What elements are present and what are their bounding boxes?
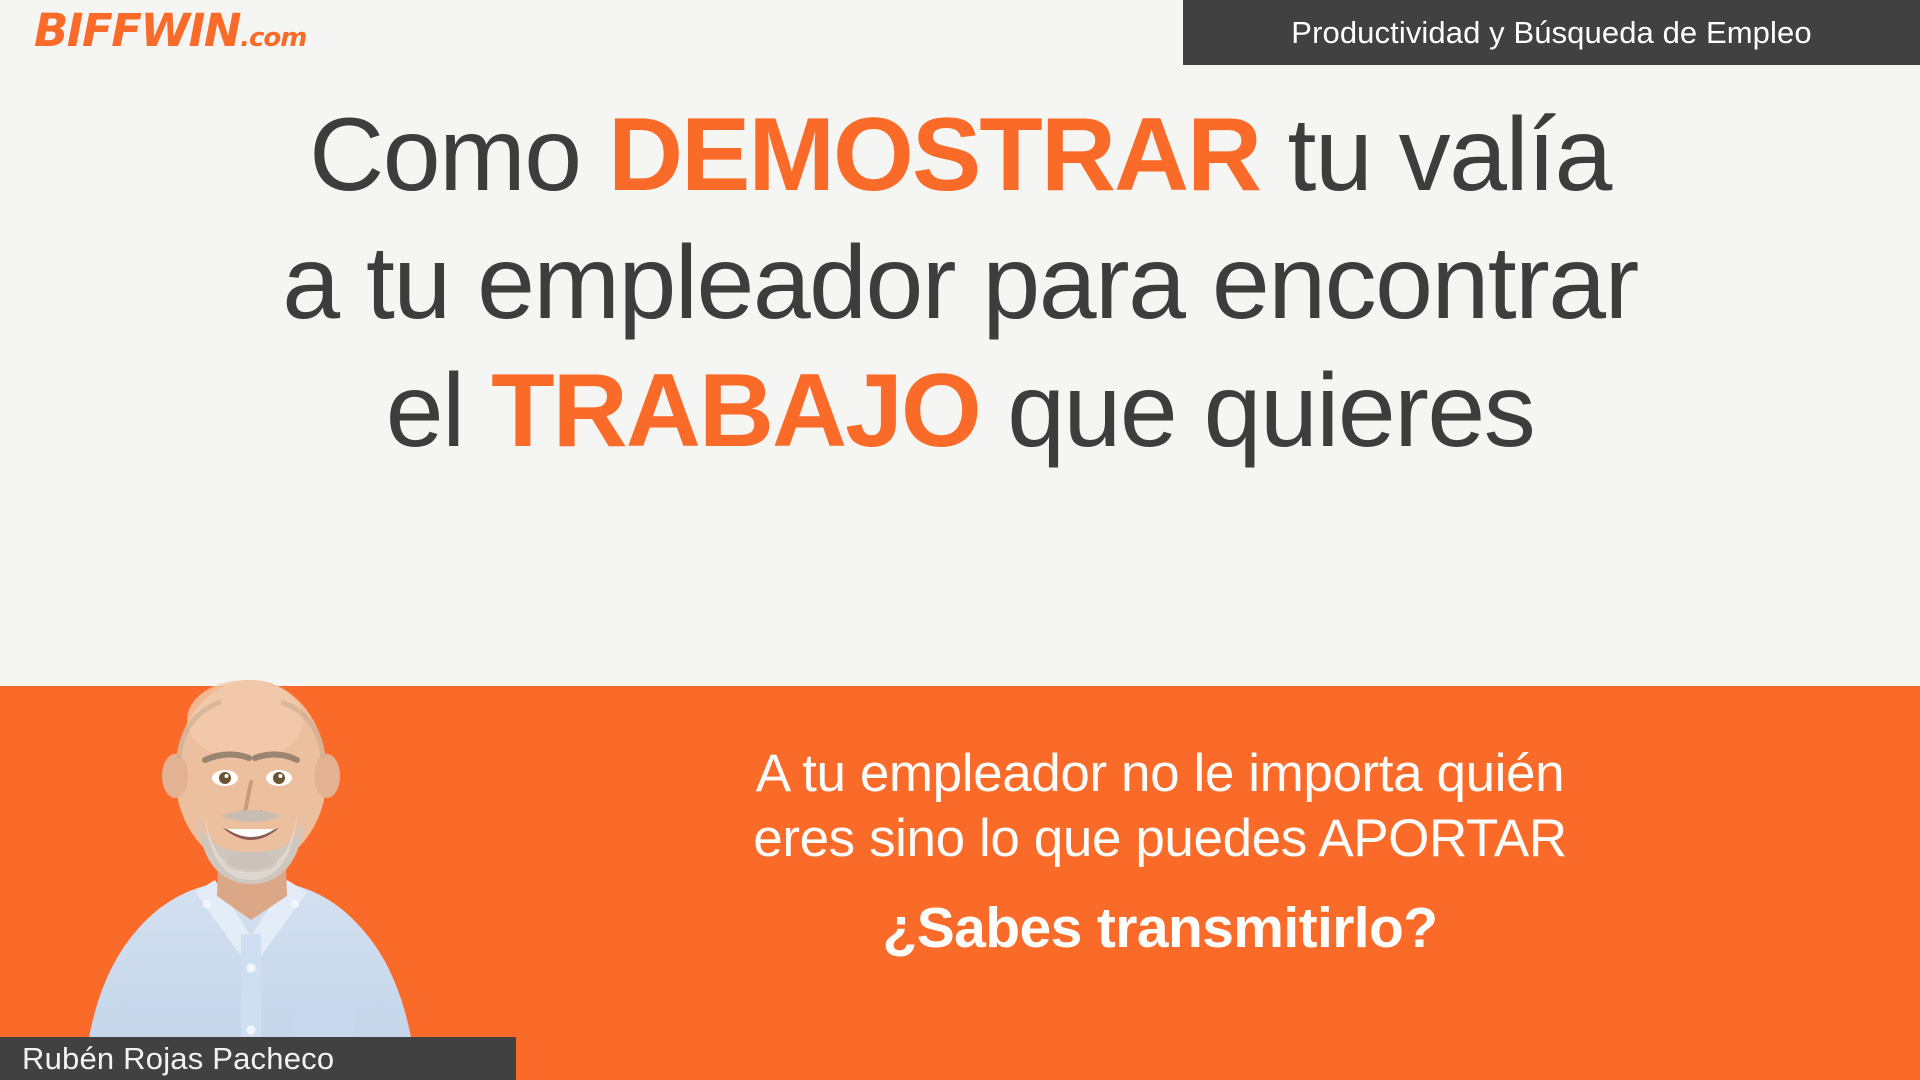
topic-banner: Productividad y Búsqueda de Empleo [1183,0,1920,65]
headline-line-1: Como DEMOSTRAR tu valía [0,92,1920,220]
logo-domain-suffix: .com [240,23,306,53]
presenter-name-label: Rubén Rojas Pacheco [0,1041,334,1077]
headline-line-3: el TRABAJO que quieres [0,348,1920,476]
topic-banner-label: Productividad y Búsqueda de Empleo [1291,15,1811,51]
headline-text-3b: que quieres [980,353,1534,469]
subheading-question: ¿Sabes transmitirlo? [440,895,1880,961]
presenter-name-badge: Rubén Rojas Pacheco [0,1037,516,1080]
headline-emphasis-demostrar: DEMOSTRAR [608,97,1260,213]
slide-canvas: BIFFWIN.com Productividad y Búsqueda de … [0,0,1920,1080]
subheading-line-2: eres sino lo que puedes APORTAR [440,807,1880,872]
headline-text-1b: tu valía [1260,97,1611,213]
headline-text-3a: el [386,353,491,469]
headline-line-2: a tu empleador para encontrar [0,220,1920,348]
subheading-line-1: A tu empleador no le importa quién [440,742,1880,807]
page-title: Como DEMOSTRAR tu valía a tu empleador p… [0,92,1920,476]
presenter-photo [55,648,445,1080]
headline-text-1a: Como [309,97,608,213]
biffwin-logo[interactable]: BIFFWIN.com [34,8,306,53]
subheading-block: A tu empleador no le importa quién eres … [440,742,1880,961]
logo-wordmark: BIFFWIN [34,4,240,57]
headline-emphasis-trabajo: TRABAJO [491,353,980,469]
